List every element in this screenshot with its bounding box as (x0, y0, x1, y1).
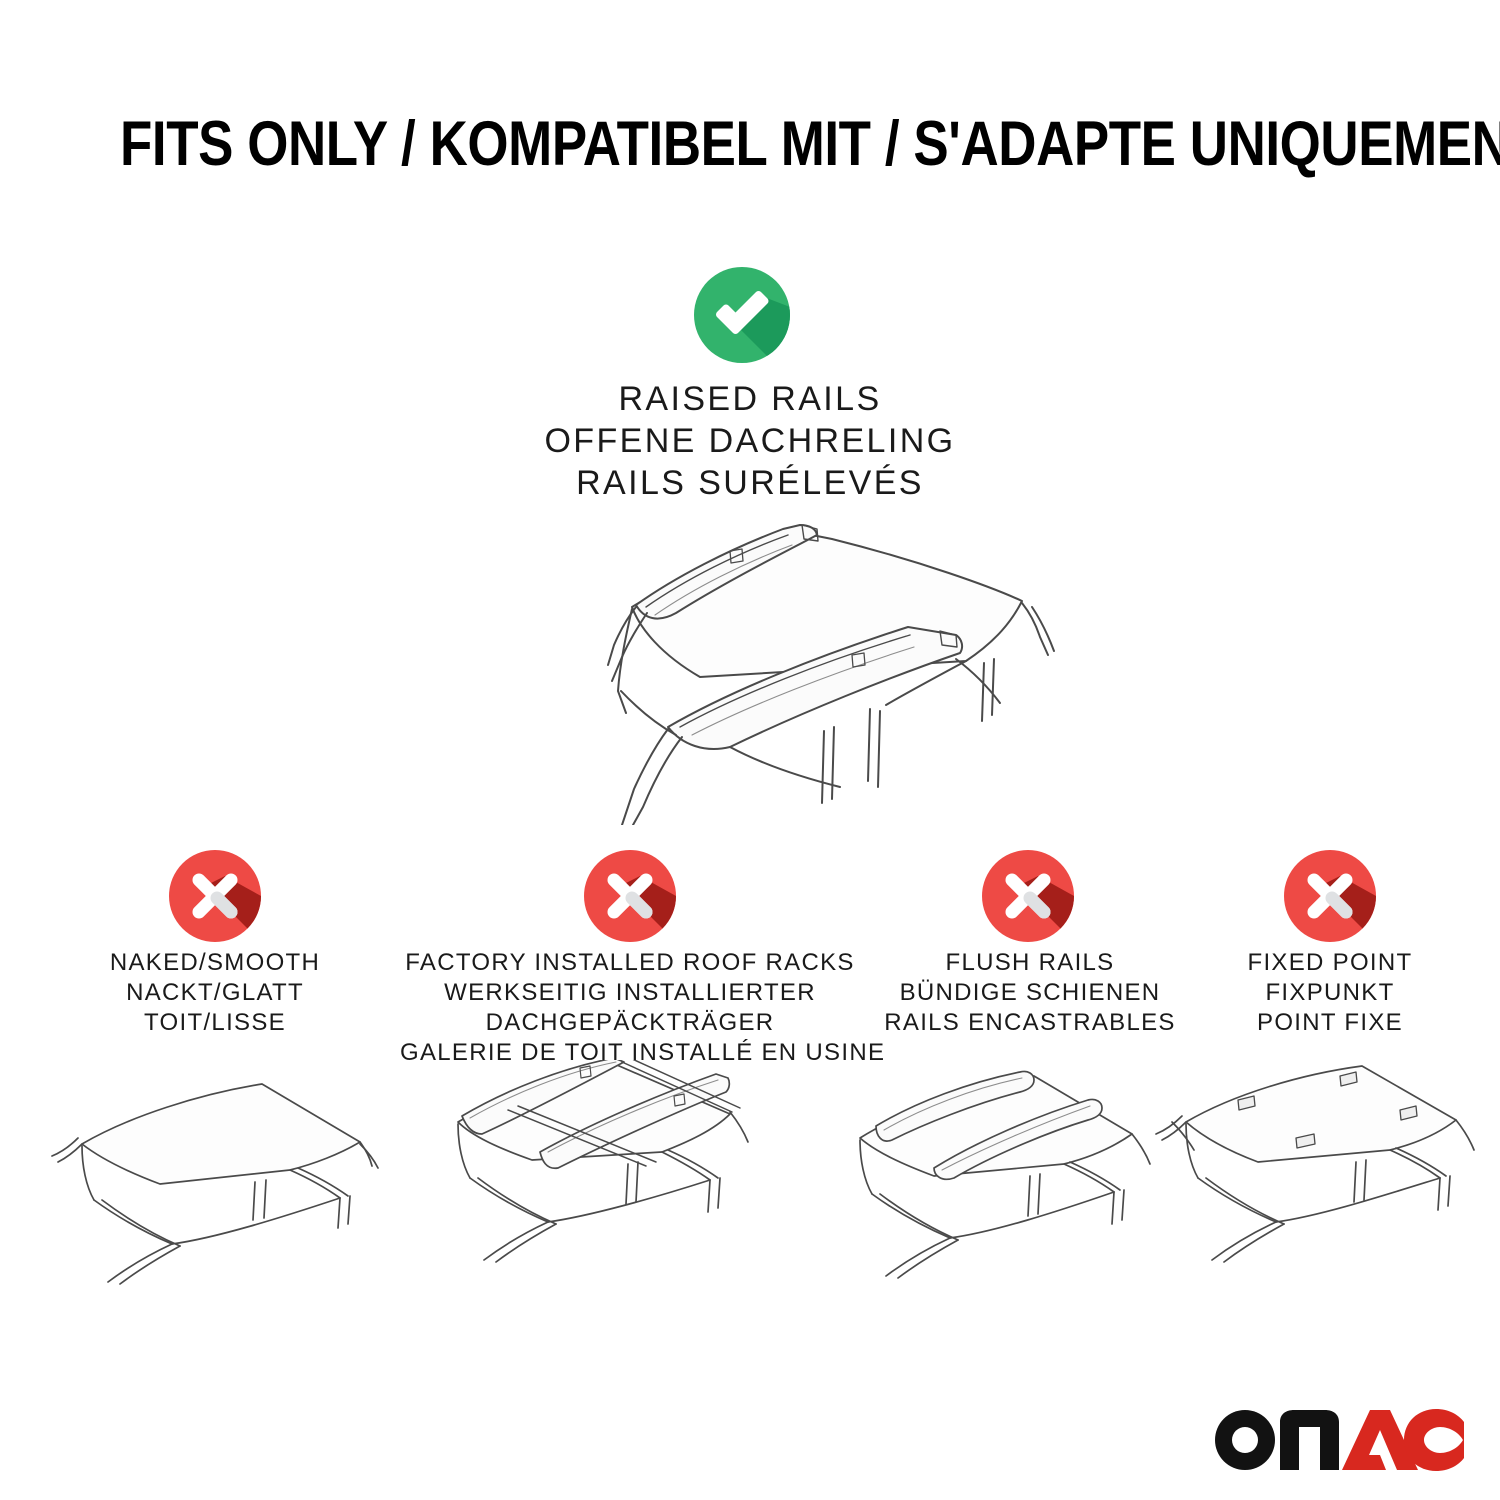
check-circle-icon (694, 267, 790, 363)
car-roof-flush-rails-illustration (820, 1060, 1200, 1290)
label-line-1: FIXED POINT (1160, 948, 1500, 978)
compatible-label-line-2: OFFENE DACHRELING (250, 420, 1250, 462)
incompatible-label-factory-racks: FACTORY INSTALLED ROOF RACKS WERKSEITIG … (400, 948, 860, 1068)
label-line-3: TOIT/LISSE (0, 1008, 430, 1038)
label-line-3: POINT FIXE (1160, 1008, 1500, 1038)
car-roof-raised-rails-illustration (400, 495, 1100, 825)
compatible-label-line-1: RAISED RAILS (250, 378, 1250, 420)
car-roof-fixed-point-illustration (1150, 1060, 1500, 1290)
car-roof-naked-smooth-illustration (40, 1060, 420, 1290)
compatible-label: RAISED RAILS OFFENE DACHRELING RAILS SUR… (250, 378, 1250, 504)
label-line-1: NAKED/SMOOTH (0, 948, 430, 978)
label-line-3: DACHGEPÄCKTRÄGER (400, 1008, 860, 1038)
label-line-2: NACKT/GLATT (0, 978, 430, 1008)
cross-circle-icon (982, 850, 1074, 942)
label-line-1: FACTORY INSTALLED ROOF RACKS (400, 948, 860, 978)
label-line-2: WERKSEITIG INSTALLIERTER (400, 978, 860, 1008)
car-roof-factory-racks-illustration (410, 1060, 790, 1290)
incompatible-label-fixed-point: FIXED POINT FIXPUNKT POINT FIXE (1160, 948, 1500, 1038)
cross-circle-icon (169, 850, 261, 942)
cross-circle-icon (1284, 850, 1376, 942)
label-line-2: FIXPUNKT (1160, 978, 1500, 1008)
page-title: FITS ONLY / KOMPATIBEL MIT / S'ADAPTE UN… (120, 108, 1380, 180)
omac-logo (1212, 1400, 1464, 1472)
incompatible-label-naked-smooth: NAKED/SMOOTH NACKT/GLATT TOIT/LISSE (0, 948, 430, 1038)
cross-circle-icon (584, 850, 676, 942)
